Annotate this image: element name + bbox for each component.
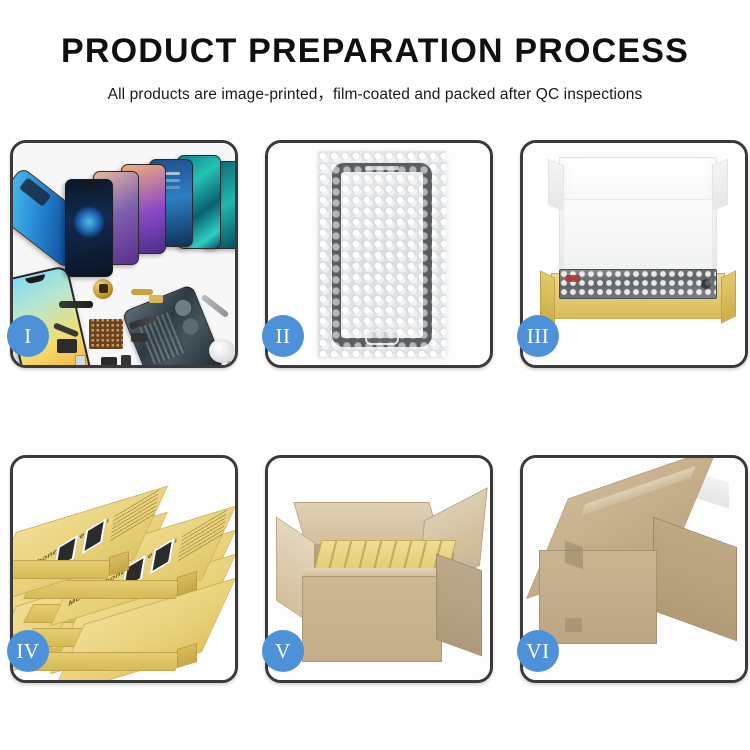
- page-title: PRODUCT PREPARATION PROCESS: [0, 34, 750, 70]
- bubble-wrap-sheet: [318, 151, 446, 357]
- battery-connector-part: [101, 357, 117, 365]
- step-panel-ii[interactable]: II: [265, 140, 493, 368]
- page-header: PRODUCT PREPARATION PROCESS All products…: [0, 0, 750, 104]
- page-subtitle: All products are image-printed，film-coat…: [0, 82, 750, 104]
- carton-corner-tab: [565, 618, 582, 632]
- box-thumbnail: [149, 536, 176, 575]
- step-badge-ii: II: [262, 315, 304, 357]
- sim-tray-part: [121, 355, 131, 365]
- carton-side-face: [436, 554, 482, 657]
- step-badge-v: V: [262, 630, 304, 672]
- screw-part: [227, 361, 232, 365]
- step-badge-iii: III: [517, 315, 559, 357]
- phone-screen-fan: [65, 155, 235, 277]
- step-badge-i: I: [7, 315, 49, 357]
- process-steps-grid: I II III: [10, 140, 748, 683]
- box-thumbnail: [81, 516, 108, 555]
- wrapped-screen-in-box: [559, 269, 717, 299]
- step-panel-iii[interactable]: III: [520, 140, 748, 368]
- step-panel-iv[interactable]: Mobile Phone Spare Parts Mobile Phone Sp…: [10, 455, 238, 683]
- camera-module-part: [57, 339, 77, 353]
- hand-holding-part: [209, 339, 235, 363]
- step-panel-v[interactable]: V: [265, 455, 493, 683]
- step-badge-vi: VI: [517, 630, 559, 672]
- box-foam-insert: [563, 199, 713, 277]
- carton-front-face: [302, 576, 442, 662]
- flex-cable-part: [59, 301, 93, 308]
- step-badge-iv: IV: [7, 630, 49, 672]
- carton-side-face: [653, 517, 737, 642]
- carton-front-face: [539, 550, 657, 644]
- chip-component: [89, 319, 123, 349]
- small-component-part: [75, 355, 86, 365]
- gold-bracket-part: [149, 295, 163, 303]
- step-panel-i[interactable]: I: [10, 140, 238, 368]
- step-panel-vi[interactable]: VI: [520, 455, 748, 683]
- ic-chip-part: [131, 333, 147, 342]
- phone-screen-outline: [332, 163, 432, 347]
- speaker-component: [93, 279, 113, 299]
